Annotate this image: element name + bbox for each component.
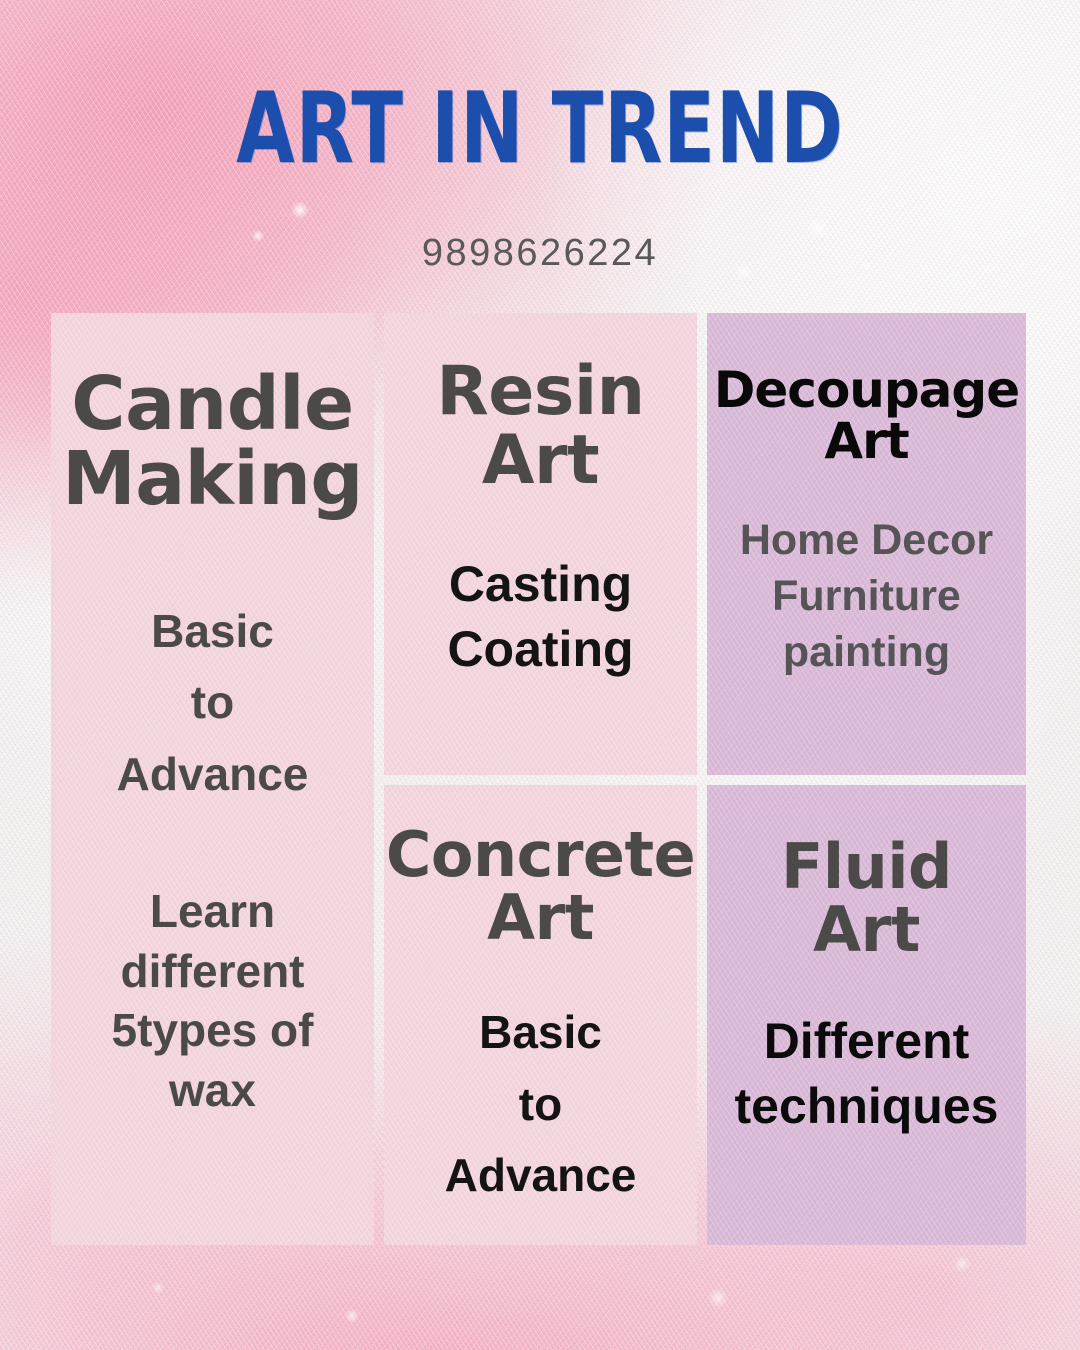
course-card-candle-making[interactable]: CandleMaking BasictoAdvance Learndiffere… xyxy=(51,313,374,1245)
poster-header: ART IN TREND 9898626224 xyxy=(0,0,1080,313)
course-title-fluid-art: FluidArt xyxy=(781,835,952,961)
contact-phone-number: 9898626224 xyxy=(0,232,1080,275)
course-column-left: CandleMaking BasictoAdvance Learndiffere… xyxy=(51,313,374,1245)
course-panel-grid: CandleMaking BasictoAdvance Learndiffere… xyxy=(51,313,1025,1245)
course-title-resin-art: ResinArt xyxy=(436,357,644,496)
course-card-decoupage-art[interactable]: DecoupageArt Home DecorFurniturepainting xyxy=(707,313,1026,775)
course-detail-decoupage-topics: Home DecorFurniturepainting xyxy=(740,513,993,681)
course-detail-resin-techniques: CastingCoating xyxy=(447,552,633,682)
course-title-concrete-art: ConcreteArt xyxy=(386,823,695,949)
course-card-fluid-art[interactable]: FluidArt Differenttechniques xyxy=(707,785,1026,1245)
course-card-concrete-art[interactable]: ConcreteArt BasictoAdvance xyxy=(384,785,697,1245)
course-detail-concrete-level: BasictoAdvance xyxy=(445,997,637,1211)
course-column-middle: ResinArt CastingCoating ConcreteArt Basi… xyxy=(384,313,697,1245)
course-detail-fluid-techniques: Differenttechniques xyxy=(735,1009,999,1139)
course-column-right: DecoupageArt Home DecorFurniturepainting… xyxy=(707,313,1026,1245)
course-card-resin-art[interactable]: ResinArt CastingCoating xyxy=(384,313,697,775)
course-detail-candle-wax-types: Learndifferent5types ofwax xyxy=(112,882,314,1121)
brand-title: ART IN TREND xyxy=(65,80,1015,178)
course-title-decoupage-art: DecoupageArt xyxy=(714,365,1019,467)
course-detail-candle-level: BasictoAdvance xyxy=(117,596,309,810)
poster-canvas: ART IN TREND 9898626224 CandleMaking Bas… xyxy=(0,0,1080,1350)
course-title-candle-making: CandleMaking xyxy=(62,367,363,518)
